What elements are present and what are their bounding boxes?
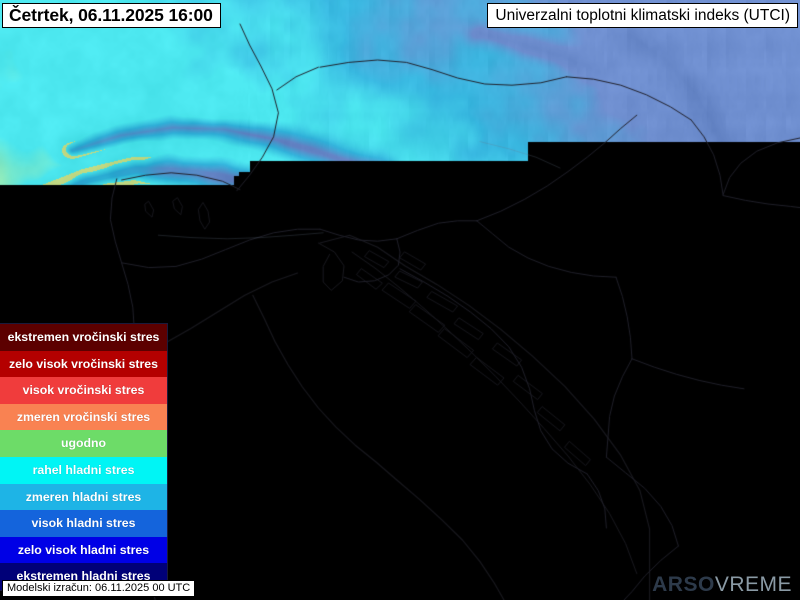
- arso-vreme-logo[interactable]: ARSOVREME: [652, 574, 792, 595]
- map-parameter-title: Univerzalni toplotni klimatski indeks (U…: [487, 3, 798, 28]
- logo-vreme-text: VREME: [715, 573, 792, 596]
- legend-row: zelo visok hladni stres: [0, 537, 167, 564]
- legend-row-label: zmeren hladni stres: [26, 490, 142, 504]
- utci-map-screenshot: { "header": { "datetime_label": "\u010ce…: [0, 0, 800, 600]
- legend-row-label: ugodno: [61, 436, 106, 450]
- utci-legend: ekstremen vročinski streszelo visok vroč…: [0, 323, 168, 591]
- legend-row-label: rahel hladni stres: [33, 463, 135, 477]
- model-run-footer: Modelski izračun: 06.11.2025 00 UTC: [2, 580, 195, 597]
- legend-row: zelo visok vročinski stres: [0, 351, 167, 378]
- legend-row-label: zmeren vročinski stres: [17, 410, 150, 424]
- logo-arso-text: ARSO: [652, 573, 715, 596]
- legend-row: visok hladni stres: [0, 510, 167, 537]
- legend-row: visok vročinski stres: [0, 377, 167, 404]
- legend-row-label: visok vročinski stres: [23, 383, 145, 397]
- map-datetime-title: Četrtek, 06.11.2025 16:00: [2, 3, 221, 28]
- legend-row: ekstremen vročinski stres: [0, 324, 167, 351]
- legend-row-label: zelo visok hladni stres: [18, 543, 149, 557]
- legend-row: ugodno: [0, 430, 167, 457]
- legend-row: rahel hladni stres: [0, 457, 167, 484]
- legend-row-label: zelo visok vročinski stres: [9, 357, 158, 371]
- legend-row-label: visok hladni stres: [32, 516, 136, 530]
- legend-row: zmeren vročinski stres: [0, 404, 167, 431]
- legend-row-label: ekstremen vročinski stres: [8, 330, 160, 344]
- legend-row: zmeren hladni stres: [0, 484, 167, 511]
